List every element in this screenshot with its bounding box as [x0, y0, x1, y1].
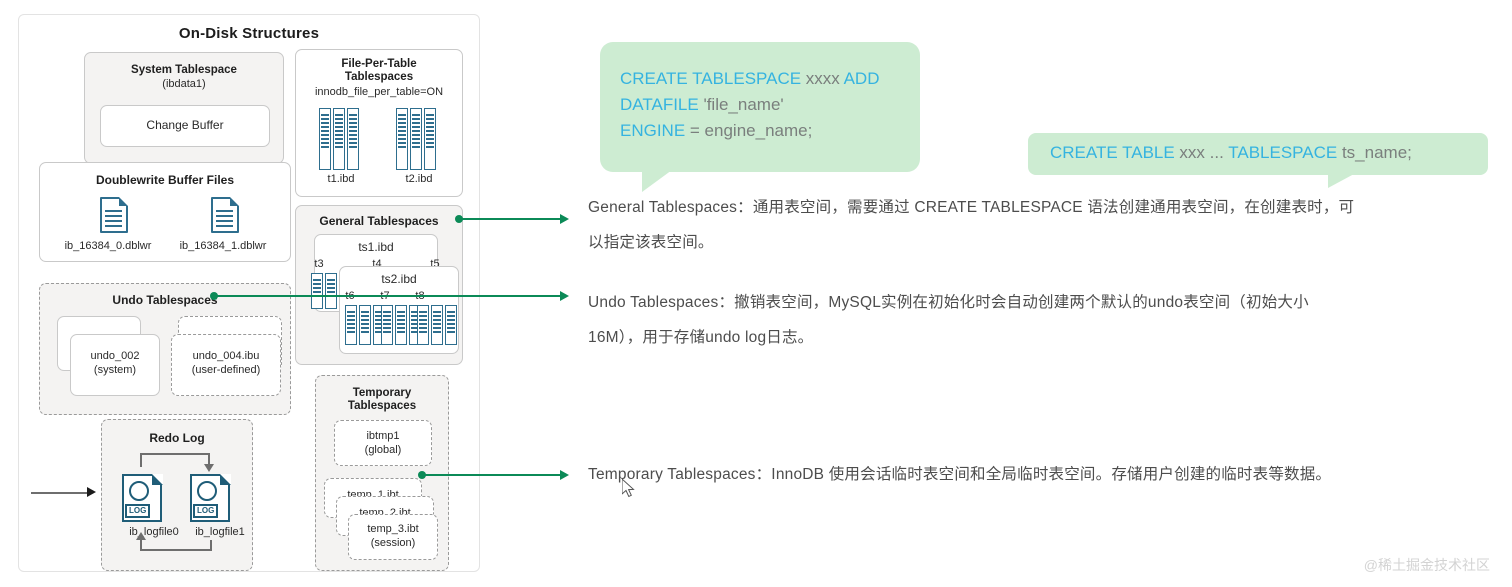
undo-004-label: undo_004.ibu	[172, 350, 280, 363]
redo-log-file-1: ib_logfile1	[160, 526, 280, 539]
sql-value-engine-name: = engine_name;	[685, 121, 812, 140]
sql-value-ts-name: ts_name;	[1337, 143, 1412, 162]
sql-keyword-engine: ENGINE	[620, 121, 685, 140]
file-per-table-file-0: t1.ibd	[306, 173, 376, 186]
file-per-table-file-1: t2.ibd	[384, 173, 454, 186]
redo-log-title: Redo Log	[102, 432, 252, 445]
sql-keyword-create-tablespace: CREATE TABLESPACE	[620, 69, 801, 88]
connector-line-undo	[215, 295, 563, 297]
redo-log-tag-0: LOG	[125, 504, 150, 518]
general-tablespaces-title: General Tablespaces	[296, 215, 462, 228]
ts2-box: ts2.ibd t6 t7 t8	[339, 266, 459, 354]
file-per-table-subtitle: innodb_file_per_table=ON	[296, 86, 462, 99]
sql-keyword-create-table: CREATE TABLE	[1050, 143, 1175, 162]
system-tablespace-subtitle: (ibdata1)	[85, 78, 283, 91]
sql-line-3: ENGINE = engine_name;	[620, 118, 812, 144]
paragraph-temporary-line1: Temporary Tablespaces：InnoDB 使用会话临时表空间和全…	[588, 457, 1488, 492]
system-tablespace-box: System Tablespace (ibdata1) Change Buffe…	[84, 52, 284, 164]
file-icon-dblwr-0	[100, 197, 128, 233]
paragraph-general-tablespaces: General Tablespaces：通用表空间，需要通过 CREATE TA…	[588, 190, 1488, 260]
redo-log-icon-0: LOG	[122, 474, 162, 522]
table-icon-t7	[381, 305, 421, 345]
temp-3-sublabel: (session)	[349, 537, 437, 550]
sql-value-xxxx: xxxx	[801, 69, 844, 88]
connector-arrow-general	[560, 214, 569, 224]
system-tablespace-title: System Tablespace	[85, 64, 283, 77]
connector-arrow-undo	[560, 291, 569, 301]
redo-arrow-head-up	[136, 532, 146, 540]
doublewrite-file-1: ib_16384_1.dblwr	[158, 240, 288, 253]
temp-3-label: temp_3.ibt	[349, 523, 437, 536]
redo-arrow-bottom-left	[140, 540, 142, 551]
file-per-table-title-line2: Tablespaces	[296, 71, 462, 84]
paragraph-general-line1: General Tablespaces：通用表空间，需要通过 CREATE TA…	[588, 190, 1488, 225]
paragraph-undo-line1: Undo Tablespaces：撤销表空间，MySQL实例在初始化时会自动创建…	[588, 285, 1488, 320]
connector-line-general	[460, 218, 562, 220]
general-tablespaces-box: General Tablespaces ts1.ibd t3 t4 t5 ts2…	[295, 205, 463, 365]
sql-keyword-add: ADD	[844, 69, 880, 88]
table-icon-t1	[319, 108, 359, 170]
redo-input-arrow-line	[31, 492, 89, 494]
undo-004-sublabel: (user-defined)	[172, 364, 280, 377]
file-per-table-title-line1: File-Per-Table	[296, 58, 462, 71]
redo-log-box: Redo Log LOG LOG ib_logfile0 ib_logfile1	[101, 419, 253, 571]
watermark: @稀土掘金技术社区	[1364, 555, 1490, 575]
sql-keyword-datafile: DATAFILE	[620, 95, 699, 114]
temporary-tablespaces-box: Temporary Tablespaces ibtmp1 (global) te…	[315, 375, 449, 571]
ibtmp1-sublabel: (global)	[335, 444, 431, 457]
change-buffer-box: Change Buffer	[100, 105, 270, 147]
redo-log-icon-1: LOG	[190, 474, 230, 522]
redo-arrow-top-left	[140, 453, 142, 467]
file-icon-dblwr-1	[211, 197, 239, 233]
redo-log-tag-1: LOG	[193, 504, 218, 518]
undo-002-box: undo_002 (system)	[70, 334, 160, 396]
connector-arrow-temporary	[560, 470, 569, 480]
paragraph-undo-tablespaces: Undo Tablespaces：撤销表空间，MySQL实例在初始化时会自动创建…	[588, 285, 1488, 355]
temp-3-box: temp_3.ibt (session)	[348, 514, 438, 560]
redo-arrow-bottom-right	[210, 540, 212, 551]
doublewrite-file-0: ib_16384_0.dblwr	[43, 240, 173, 253]
undo-002-label: undo_002	[71, 350, 159, 363]
callout-create-table: CREATE TABLE xxx ... TABLESPACE ts_name;	[1028, 133, 1488, 175]
ts1-name: ts1.ibd	[315, 241, 437, 254]
paragraph-temporary-tablespaces: Temporary Tablespaces：InnoDB 使用会话临时表空间和全…	[588, 457, 1488, 492]
sql-value-file-name: 'file_name'	[699, 95, 784, 114]
paragraph-general-line2: 以指定该表空间。	[588, 225, 1488, 260]
connector-line-temporary	[423, 474, 563, 476]
temporary-title-line2: Tablespaces	[316, 400, 448, 413]
on-disk-structures-diagram: On-Disk Structures System Tablespace (ib…	[18, 14, 480, 572]
file-per-table-box: File-Per-Table Tablespaces innodb_file_p…	[295, 49, 463, 197]
ts2-name: ts2.ibd	[340, 273, 458, 286]
table-icon-t2	[396, 108, 436, 170]
sql-create-table: CREATE TABLE xxx ... TABLESPACE ts_name;	[1050, 140, 1412, 166]
temporary-title-line1: Temporary	[316, 387, 448, 400]
table-icon-t8	[417, 305, 457, 345]
sql-line-1: CREATE TABLESPACE xxxx ADD	[620, 66, 880, 92]
paragraph-undo-line2: 16M），用于存储undo log日志。	[588, 320, 1488, 355]
table-icon-t6	[345, 305, 385, 345]
redo-input-arrow-head	[87, 487, 96, 497]
change-buffer-label: Change Buffer	[101, 119, 269, 132]
sql-line-2: DATAFILE 'file_name'	[620, 92, 784, 118]
undo-002-sublabel: (system)	[71, 364, 159, 377]
redo-arrow-top	[140, 453, 210, 455]
doublewrite-title: Doublewrite Buffer Files	[40, 174, 290, 187]
callout-tail-create-tablespace	[642, 170, 672, 192]
sql-value-xxx: xxx ...	[1175, 143, 1229, 162]
mouse-cursor	[622, 479, 635, 498]
ibtmp1-label: ibtmp1	[335, 430, 431, 443]
undo-004-box: undo_004.ibu (user-defined)	[171, 334, 281, 396]
sql-keyword-tablespace: TABLESPACE	[1228, 143, 1337, 162]
redo-arrow-bottom	[140, 549, 212, 551]
callout-tail-create-table	[1328, 174, 1354, 188]
callout-create-tablespace: CREATE TABLESPACE xxxx ADD DATAFILE 'fil…	[600, 42, 920, 172]
doublewrite-buffer-box: Doublewrite Buffer Files ib_16384_0.dblw…	[39, 162, 291, 262]
ibtmp1-box: ibtmp1 (global)	[334, 420, 432, 466]
diagram-title: On-Disk Structures	[19, 25, 479, 42]
undo-tablespaces-box: Undo Tablespaces undo_001 undo_002 (syst…	[39, 283, 291, 415]
redo-arrow-head-down	[204, 464, 214, 472]
